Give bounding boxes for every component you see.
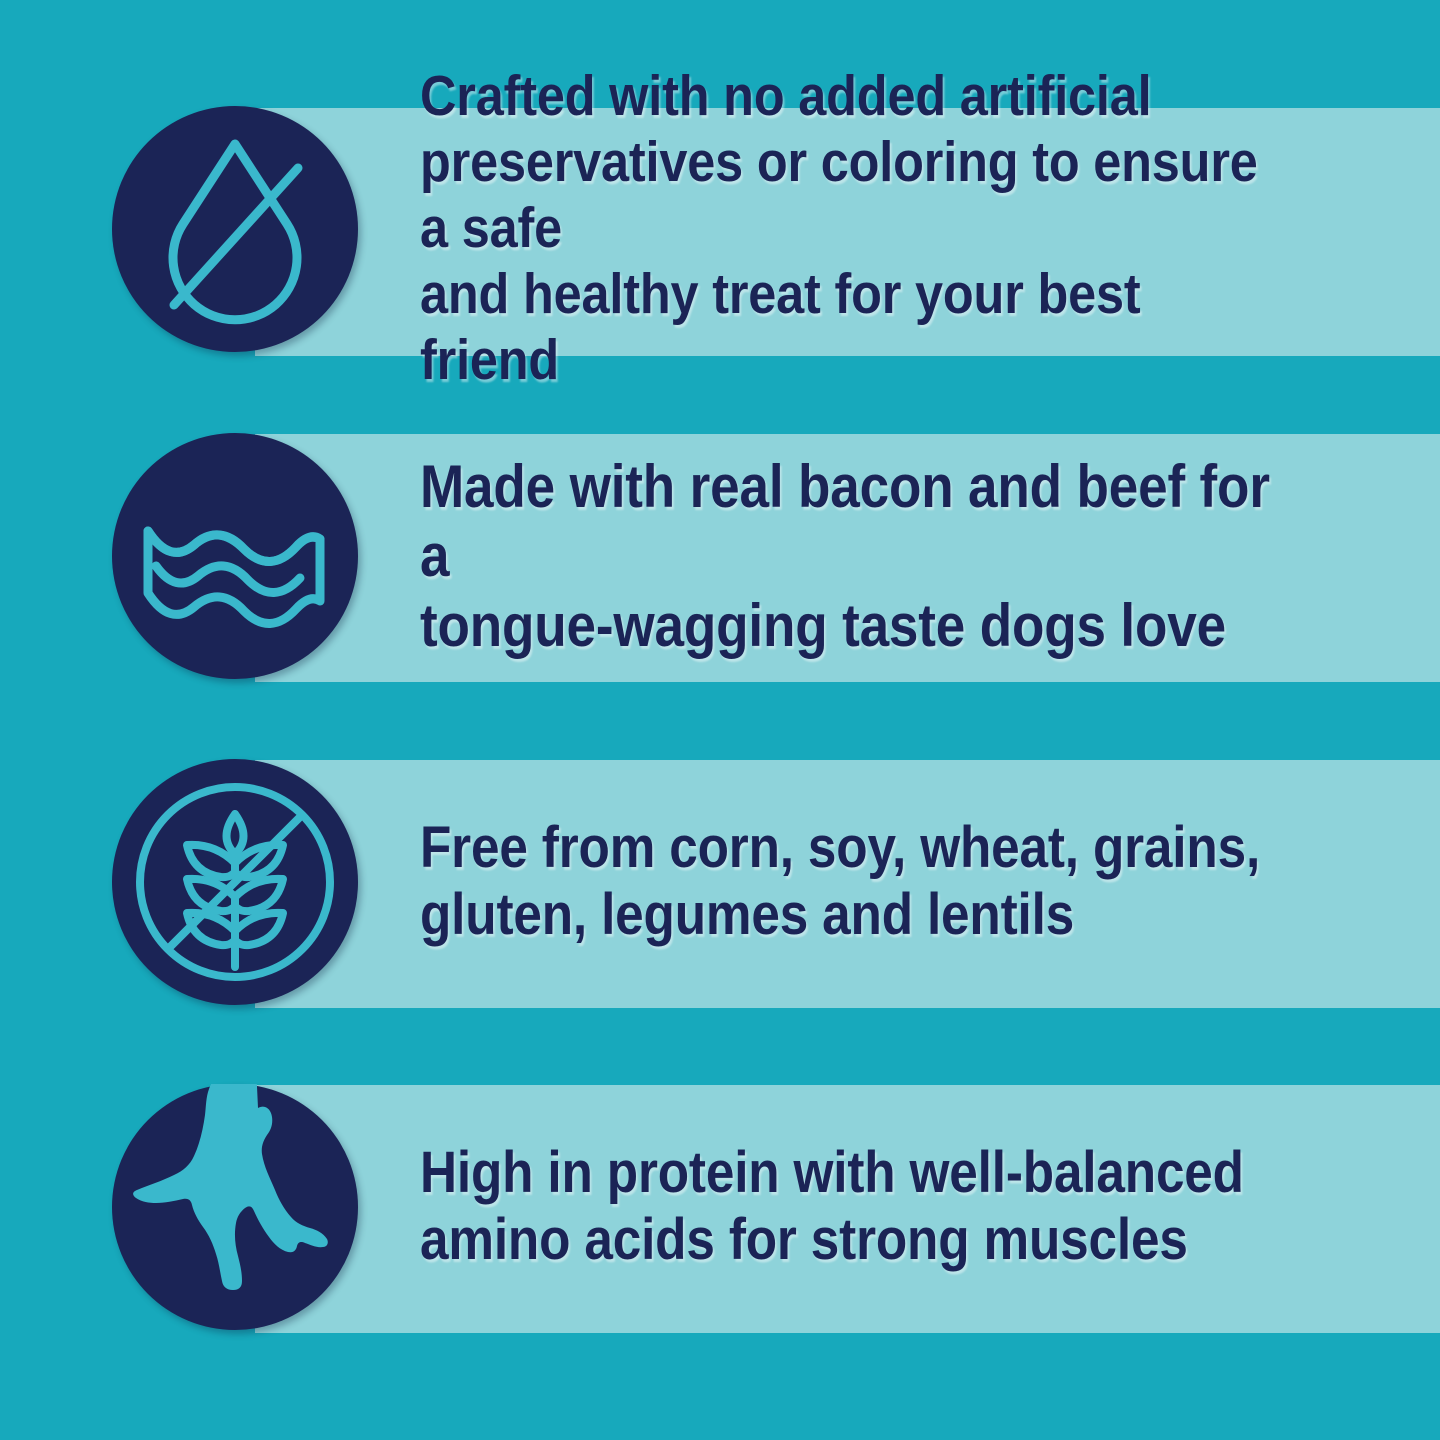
dog-silhouette-icon <box>112 1084 358 1330</box>
feature-text: Free from corn, soy, wheat, grains, glut… <box>420 815 1323 949</box>
feature-row: High in protein with well-balanced amino… <box>0 1083 1440 1331</box>
feature-row: Crafted with no added artificial preserv… <box>0 105 1440 353</box>
feature-text: Crafted with no added artificial preserv… <box>420 64 1323 393</box>
feature-text: Made with real bacon and beef for a tong… <box>420 452 1323 660</box>
feature-text: High in protein with well-balanced amino… <box>420 1140 1323 1274</box>
infographic-canvas: Crafted with no added artificial preserv… <box>0 0 1440 1440</box>
no-grain-wheat-icon <box>112 759 358 1005</box>
feature-list: Crafted with no added artificial preserv… <box>0 0 1440 1440</box>
feature-row: Free from corn, soy, wheat, grains, glut… <box>0 758 1440 1006</box>
feature-row: Made with real bacon and beef for a tong… <box>0 432 1440 680</box>
bacon-strip-icon <box>112 433 358 679</box>
no-water-droplet-icon <box>112 106 358 352</box>
